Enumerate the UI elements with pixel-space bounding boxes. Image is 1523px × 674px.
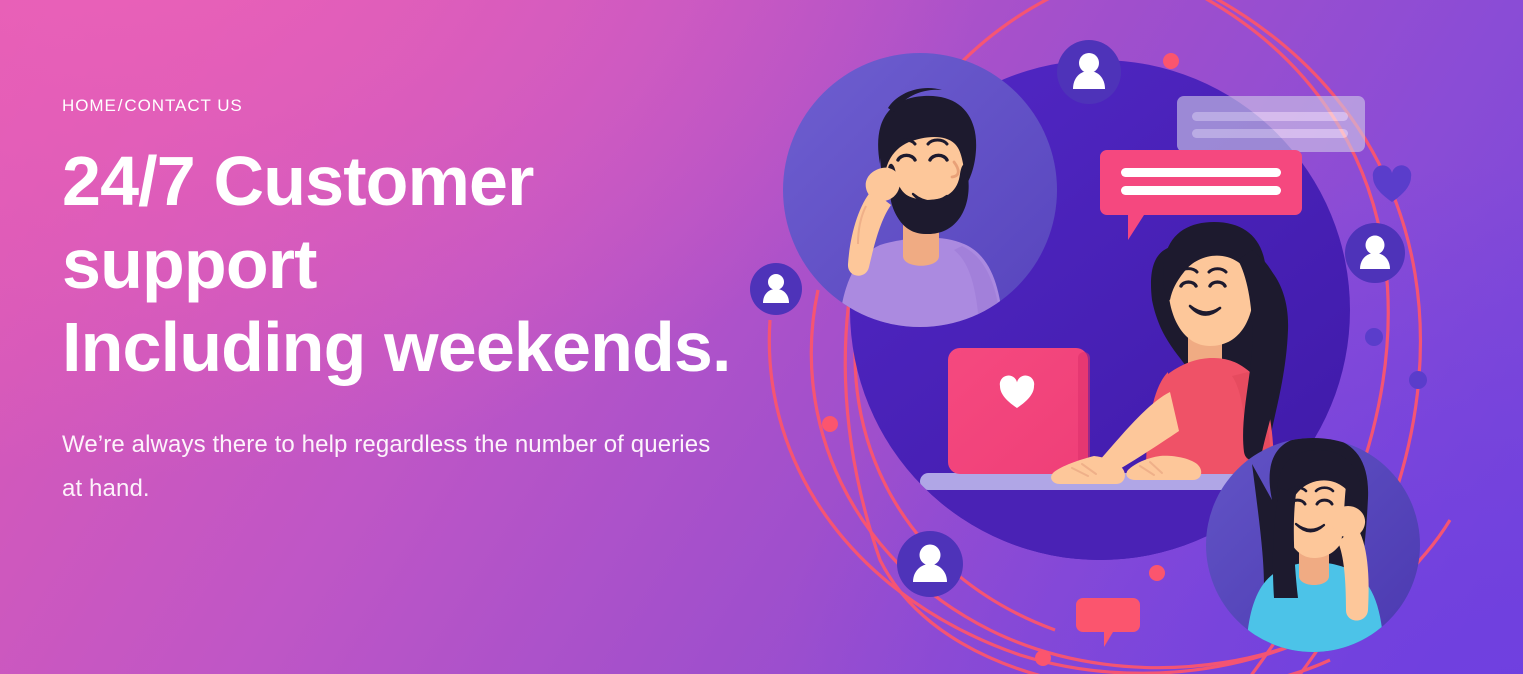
badge-avatar-right <box>1345 223 1405 283</box>
hero-banner: HOME/CONTACT US 24/7 Customer support In… <box>0 0 1523 674</box>
orbit-dot-bottom-mid <box>1149 565 1165 581</box>
orbit-dot-right-upper <box>1365 328 1383 346</box>
hero-copy: HOME/CONTACT US 24/7 Customer support In… <box>62 96 782 511</box>
orbit-dots-purple <box>1365 328 1427 389</box>
badge-avatar-top <box>1057 40 1121 104</box>
headline-line-1: 24/7 Customer support <box>62 142 534 303</box>
badge-avatar-bottom <box>897 531 963 597</box>
breadcrumb-current-contact-us[interactable]: CONTACT US <box>124 96 242 115</box>
page-title: 24/7 Customer support Including weekends… <box>62 140 782 389</box>
hero-subcopy: We’re always there to help regardless th… <box>62 423 722 511</box>
breadcrumb: HOME/CONTACT US <box>62 96 782 116</box>
chat-bubble-small-pink <box>1076 598 1140 647</box>
subcopy-line-1: We’re always there to help regardless th… <box>62 431 597 458</box>
chat-bubble-grey <box>1177 96 1365 152</box>
orbit-dot-top <box>1163 53 1179 69</box>
heart-icon-orbit <box>1373 165 1411 202</box>
headline-line-2: Including weekends. <box>62 306 782 389</box>
orbit-dot-right-lower <box>1409 371 1427 389</box>
orbit-dot-bottom-left <box>1035 650 1051 666</box>
breadcrumb-link-home[interactable]: HOME <box>62 96 117 115</box>
orbit-dot-left <box>822 416 838 432</box>
monitor <box>948 348 1090 474</box>
